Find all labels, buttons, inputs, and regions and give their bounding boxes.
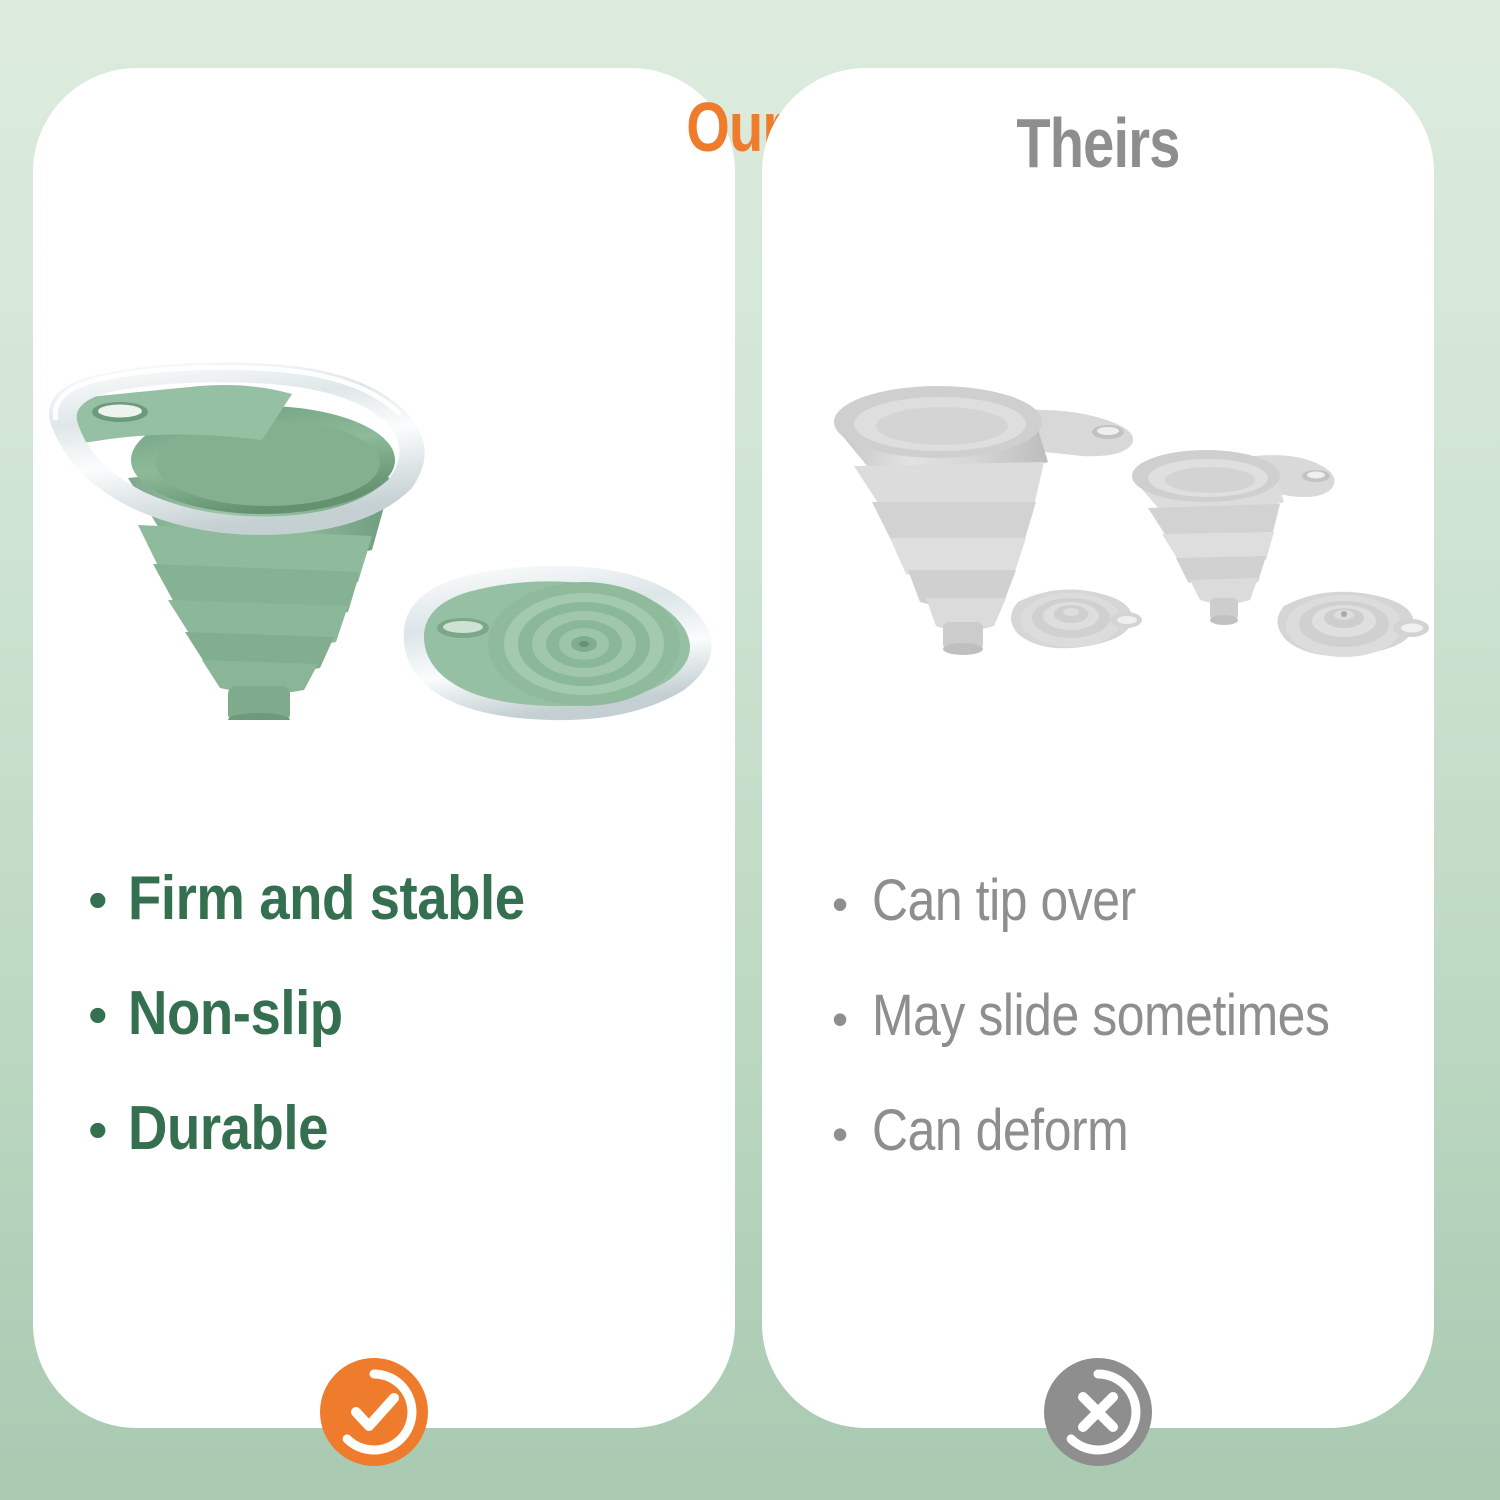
theirs-verdict-badge: [1044, 1358, 1152, 1466]
ours-verdict-badge: [320, 1358, 428, 1466]
list-item: • Can deform: [832, 1102, 1404, 1217]
ours-bullet-list: • Firm and stable • Non-slip • Durable: [88, 868, 579, 1213]
list-item: • May slide sometimes: [832, 987, 1404, 1102]
theirs-bullet-text: May slide sometimes: [872, 987, 1330, 1045]
theirs-bullet-list: • Can tip over • May slide sometimes • C…: [832, 872, 1404, 1217]
bullet-marker-icon: •: [88, 872, 128, 928]
ours-card: [33, 68, 735, 1428]
grey-funnel-small-image: [1126, 436, 1456, 666]
bullet-marker-icon: •: [832, 881, 872, 927]
x-circle-icon: [1044, 1358, 1152, 1466]
green-funnel-collapsed-image: [388, 540, 728, 740]
list-item: • Can tip over: [832, 872, 1404, 987]
bullet-marker-icon: •: [832, 996, 872, 1042]
theirs-bullet-text: Can deform: [872, 1102, 1128, 1160]
list-item: • Durable: [88, 1098, 579, 1213]
comparison-infographic: Ours: [0, 0, 1500, 1500]
list-item: • Non-slip: [88, 983, 579, 1098]
bullet-marker-icon: •: [832, 1111, 872, 1157]
ours-bullet-text: Non-slip: [128, 983, 343, 1045]
ours-bullet-text: Durable: [128, 1098, 328, 1160]
theirs-card: [762, 68, 1434, 1428]
list-item: • Firm and stable: [88, 868, 579, 983]
bullet-marker-icon: •: [88, 1102, 128, 1158]
bullet-marker-icon: •: [88, 987, 128, 1043]
check-circle-icon: [320, 1358, 428, 1466]
theirs-bullet-text: Can tip over: [872, 872, 1136, 930]
theirs-title: Theirs: [829, 108, 1367, 178]
ours-bullet-text: Firm and stable: [128, 868, 525, 930]
grey-funnel-large-image: [826, 366, 1166, 666]
